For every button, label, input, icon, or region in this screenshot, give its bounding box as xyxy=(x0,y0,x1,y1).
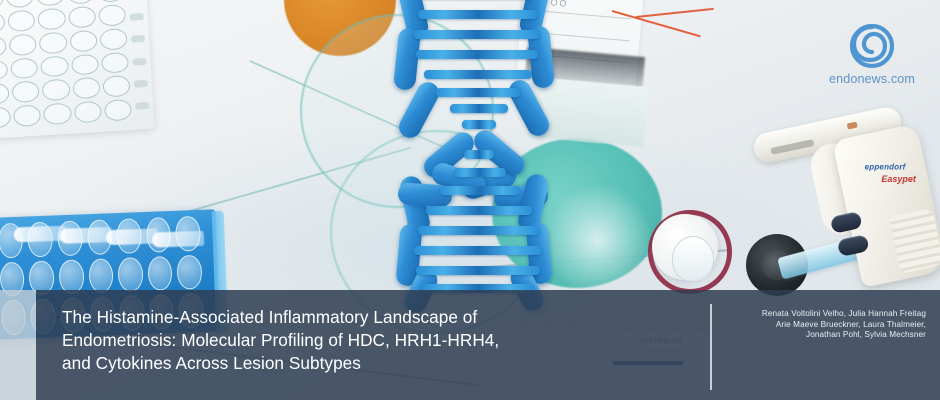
site-logo[interactable]: endonews.com xyxy=(820,22,924,90)
page-title: The Histamine-Associated Inflammatory La… xyxy=(62,306,682,376)
reagent-bottle-tube xyxy=(672,236,714,282)
dna-double-helix xyxy=(392,0,560,296)
plate-wells xyxy=(0,0,132,129)
overlay-left-strip xyxy=(0,290,36,400)
stylized-e-logo-icon xyxy=(841,22,903,70)
pipette-tips xyxy=(13,221,210,262)
author-list: Renata Voltolini Velho, Julia Hannah Fre… xyxy=(756,309,926,341)
pipette-model-label: Easypet xyxy=(881,174,916,184)
article-banner: OO OO xyxy=(0,0,940,400)
96-well-plate xyxy=(0,0,155,139)
pipette-brand-label: eppendorf xyxy=(865,163,906,172)
site-logo-text: endonews.com xyxy=(820,72,924,86)
plate-notches xyxy=(128,0,150,118)
author-divider xyxy=(710,304,712,390)
